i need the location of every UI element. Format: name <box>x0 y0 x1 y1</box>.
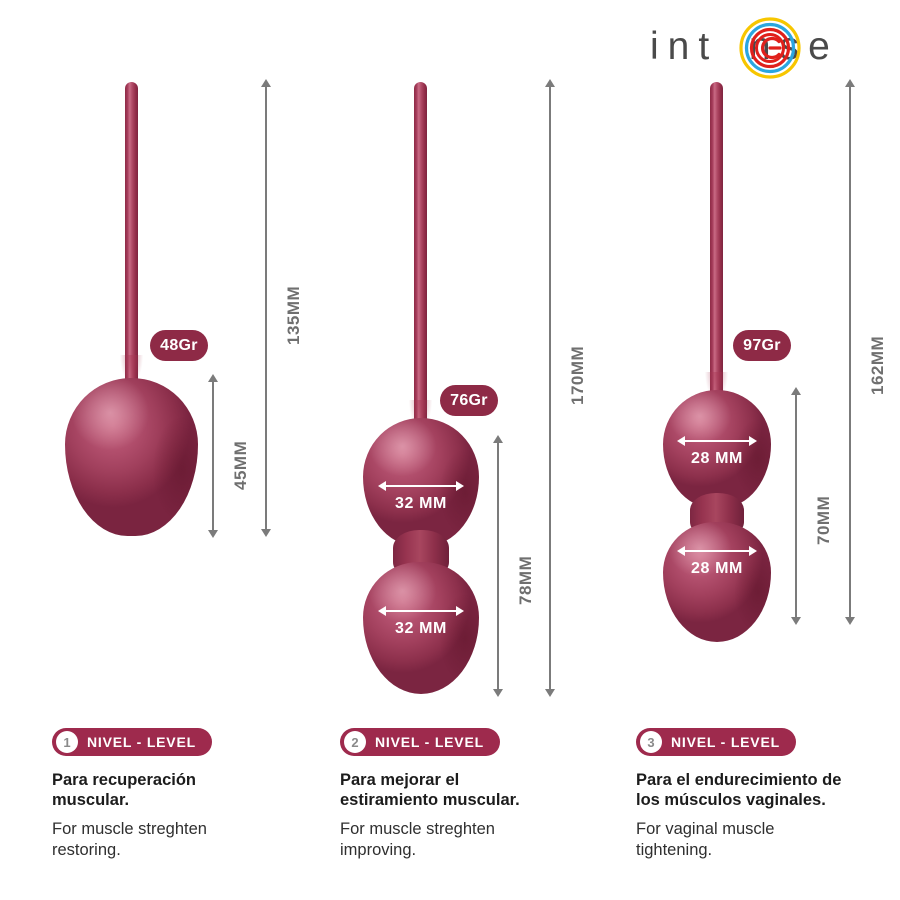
product-2-weight-badge: 76Gr <box>440 385 498 416</box>
level-block-2: 2 NIVEL - LEVEL Para mejorar el estirami… <box>340 728 610 861</box>
product-3-total-dimension-label: 162MM <box>868 336 888 395</box>
product-1-body-dimension-arrow <box>212 381 214 531</box>
product-2-cord <box>414 82 427 427</box>
product-2-width-upper-arrow <box>385 485 457 487</box>
level-label-1: NIVEL - LEVEL <box>87 734 196 750</box>
product-2-total-dimension-arrow <box>549 86 551 690</box>
product-column-3: 28 MM 28 MM 97Gr 70MM 162MM <box>584 0 884 712</box>
product-3-weight-value: 97Gr <box>743 337 781 355</box>
product-1-body-dimension-label: 45MM <box>231 441 251 490</box>
product-2-width-lower-label: 32 MM <box>395 620 447 638</box>
product-1-total-dimension-arrow <box>265 86 267 530</box>
level-description-es-1: Para recuperación muscular. <box>52 770 322 810</box>
level-description-en-2: For muscle streghten improving. <box>340 819 610 861</box>
product-2-body-dimension-label: 78MM <box>516 556 536 605</box>
level-description-es-3: Para el endurecimiento de los músculos v… <box>636 770 900 810</box>
level-badge-1[interactable]: 1 NIVEL - LEVEL <box>52 728 212 756</box>
product-3-width-upper-label: 28 MM <box>691 450 743 468</box>
product-2-width-lower-arrow <box>385 610 457 612</box>
product-1-cord <box>125 82 138 382</box>
product-1-weight-value: 48Gr <box>160 337 198 355</box>
product-2-body-dimension-arrow <box>497 442 499 690</box>
level-number-3: 3 <box>640 731 662 753</box>
product-3-total-dimension-arrow <box>849 86 851 618</box>
level-number-2: 2 <box>344 731 366 753</box>
product-3-width-lower-label: 28 MM <box>691 560 743 578</box>
level-label-3: NIVEL - LEVEL <box>671 734 780 750</box>
product-2-width-upper-label: 32 MM <box>395 495 447 513</box>
level-badge-2[interactable]: 2 NIVEL - LEVEL <box>340 728 500 756</box>
level-badge-3[interactable]: 3 NIVEL - LEVEL <box>636 728 796 756</box>
product-3-weight-badge: 97Gr <box>733 330 791 361</box>
level-block-1: 1 NIVEL - LEVEL Para recuperación muscul… <box>52 728 322 861</box>
product-2-weight-value: 76Gr <box>450 392 488 410</box>
product-3-width-upper-arrow <box>684 440 750 442</box>
product-3-ball-lower <box>663 522 771 642</box>
level-description-es-2: Para mejorar el estiramiento muscular. <box>340 770 610 810</box>
product-1-ball <box>65 378 198 536</box>
product-3-body-dimension-label: 70MM <box>814 496 834 545</box>
product-3-ball-upper <box>663 390 771 508</box>
product-column-1: 48Gr 45MM 135MM <box>0 0 300 712</box>
product-3-body-dimension-arrow <box>795 394 797 618</box>
level-label-2: NIVEL - LEVEL <box>375 734 484 750</box>
product-3-ball-upper-sheen <box>663 390 771 508</box>
product-comparison-infographic: intense 48Gr 45MM 135MM <box>0 0 900 900</box>
product-3-ball-lower-sheen <box>663 522 771 642</box>
level-description-en-3: For vaginal muscle tightening. <box>636 819 900 861</box>
product-3-cord <box>710 82 723 400</box>
product-1-ball-sheen <box>65 378 198 536</box>
level-description-en-1: For muscle streghten restoring. <box>52 819 322 861</box>
product-3-width-lower-arrow <box>684 550 750 552</box>
product-1-weight-badge: 48Gr <box>150 330 208 361</box>
level-number-1: 1 <box>56 731 78 753</box>
product-column-2: 32 MM 32 MM 76Gr 78MM 170MM <box>288 0 588 712</box>
level-block-3: 3 NIVEL - LEVEL Para el endurecimiento d… <box>636 728 900 861</box>
